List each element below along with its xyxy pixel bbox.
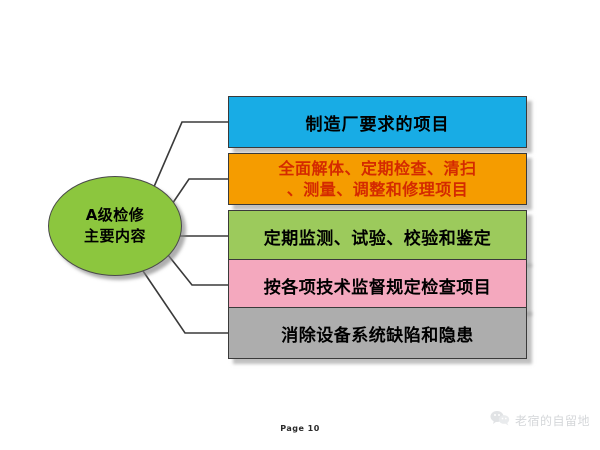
- wechat-icon: [490, 410, 510, 430]
- item-box-technical-supervision[interactable]: 按各项技术监督规定检查项目: [228, 259, 527, 311]
- item-box-1-line-1: 制造厂要求的项目: [306, 110, 450, 135]
- central-node[interactable]: A级检修 主要内容: [48, 176, 182, 276]
- item-box-full-disassembly[interactable]: 全面解体、定期检查、清扫 、测量、调整和修理项目: [228, 153, 527, 205]
- central-node-line-1: A级检修: [86, 205, 145, 226]
- item-box-2-line-1: 全面解体、定期检查、清扫: [278, 158, 476, 179]
- item-box-defect-elimination[interactable]: 消除设备系统缺陷和隐患: [228, 307, 527, 359]
- watermark-text: 老宿的自留地: [515, 412, 590, 429]
- item-box-manufacturer-required[interactable]: 制造厂要求的项目: [228, 96, 527, 148]
- central-node-line-2: 主要内容: [84, 226, 146, 247]
- watermark: 老宿的自留地: [490, 410, 590, 430]
- item-box-5-line-1: 消除设备系统缺陷和隐患: [281, 321, 474, 346]
- item-box-periodic-monitoring[interactable]: 定期监测、试验、校验和鉴定: [228, 210, 527, 262]
- connector-line-4: [164, 250, 228, 285]
- connector-line-1: [150, 122, 228, 196]
- item-box-2-line-2: 、测量、调整和修理项目: [287, 179, 469, 200]
- connector-line-5: [141, 268, 228, 333]
- slide-canvas: A级检修 主要内容 制造厂要求的项目 全面解体、定期检查、清扫 、测量、调整和修…: [0, 0, 600, 450]
- item-box-4-line-1: 按各项技术监督规定检查项目: [264, 273, 492, 298]
- item-box-3-line-1: 定期监测、试验、校验和鉴定: [264, 224, 492, 249]
